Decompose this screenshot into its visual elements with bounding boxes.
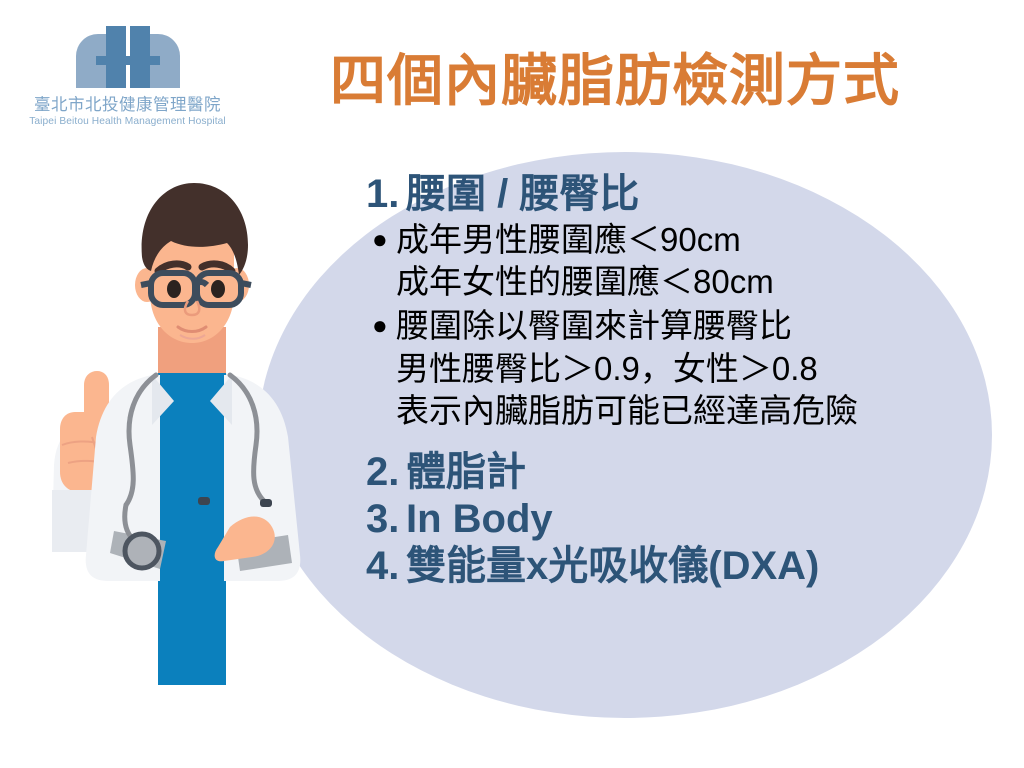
logo-name-en: Taipei Beitou Health Management Hospital xyxy=(20,116,235,127)
doctor-illustration xyxy=(30,175,370,685)
list-item-2: 2. 體脂計 xyxy=(366,450,966,495)
logo-name-zh: 臺北市北投健康管理醫院 xyxy=(20,91,235,115)
stethoscope-chestpiece xyxy=(125,534,159,568)
bullet-dot-icon: ● xyxy=(366,219,396,259)
sub-line: 腰圍除以臀圍來計算腰臀比 xyxy=(396,305,966,347)
sub-item-1-2: ● 腰圍除以臀圍來計算腰臀比 男性腰臀比＞0.9，女性＞0.8 表示內臟脂肪可能… xyxy=(366,305,966,432)
hospital-logo: 臺北市北投健康管理醫院 Taipei Beitou Health Managem… xyxy=(20,26,235,127)
list-number-4: 4. xyxy=(366,544,406,589)
sub-line: 表示內臟脂肪可能已經達高危險 xyxy=(396,390,966,432)
doctor-shirt xyxy=(158,397,226,685)
list-label-2: 體脂計 xyxy=(406,450,966,495)
list-item-1: 1. 腰圍 / 腰臀比 xyxy=(366,172,966,217)
page-title: 四個內臟脂肪檢測方式 xyxy=(330,36,950,117)
list-item-3: 3. In Body xyxy=(366,497,966,542)
sub-line: 成年女性的腰圍應＜80cm xyxy=(396,261,966,303)
methods-list: 1. 腰圍 / 腰臀比 ● 成年男性腰圍應＜90cm 成年女性的腰圍應＜80cm… xyxy=(366,172,966,590)
list-label-1: 腰圍 / 腰臀比 xyxy=(406,172,966,217)
hospital-building-icon xyxy=(72,26,184,88)
sub-line: 成年男性腰圍應＜90cm xyxy=(396,219,966,261)
list-label-4: 雙能量x光吸收儀(DXA) xyxy=(406,544,966,589)
list-number-1: 1. xyxy=(366,172,406,217)
sub-list-1: ● 成年男性腰圍應＜90cm 成年女性的腰圍應＜80cm ● 腰圍除以臀圍來計算… xyxy=(366,219,966,432)
list-number-3: 3. xyxy=(366,497,406,542)
bullet-dot-icon: ● xyxy=(366,305,396,345)
list-item-4: 4. 雙能量x光吸收儀(DXA) xyxy=(366,544,966,589)
slide-canvas: 臺北市北投健康管理醫院 Taipei Beitou Health Managem… xyxy=(0,0,1024,768)
sub-line: 男性腰臀比＞0.9，女性＞0.8 xyxy=(396,348,966,390)
list-label-3: In Body xyxy=(406,497,966,542)
sub-item-1-1: ● 成年男性腰圍應＜90cm 成年女性的腰圍應＜80cm xyxy=(366,219,966,303)
list-number-2: 2. xyxy=(366,450,406,495)
